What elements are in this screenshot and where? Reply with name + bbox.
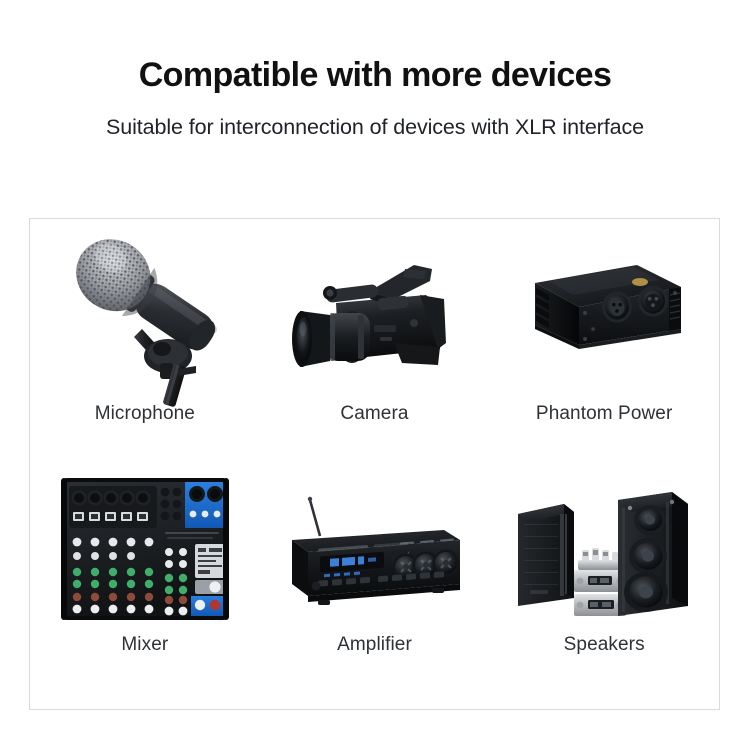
camcorder-icon	[274, 225, 474, 403]
phantom-power-artwork	[489, 225, 719, 403]
device-label-mixer: Mixer	[121, 634, 168, 656]
device-grid: Microphone	[30, 219, 719, 709]
promo-page: Compatible with more devices Suitable fo…	[0, 0, 750, 750]
amplifier-icon	[274, 466, 474, 634]
device-cell-camera[interactable]: Camera	[260, 219, 490, 464]
device-cell-speakers[interactable]: Speakers	[489, 464, 719, 709]
device-label-amplifier: Amplifier	[337, 634, 412, 656]
phantom-power-icon	[509, 225, 699, 403]
page-subtitle: Suitable for interconnection of devices …	[0, 115, 750, 140]
device-compatibility-card: Microphone	[29, 218, 720, 710]
speakers-artwork	[489, 466, 719, 634]
microphone-icon	[50, 225, 240, 403]
microphone-artwork	[30, 225, 260, 403]
device-cell-mixer[interactable]: Mixer	[30, 464, 260, 709]
device-cell-phantom-power[interactable]: Phantom Power	[489, 219, 719, 464]
device-label-camera: Camera	[340, 403, 408, 425]
amplifier-artwork	[260, 466, 490, 634]
audio-mixer-icon	[45, 466, 245, 634]
page-title: Compatible with more devices	[0, 56, 750, 95]
device-label-microphone: Microphone	[95, 403, 195, 425]
device-cell-microphone[interactable]: Microphone	[30, 219, 260, 464]
device-label-phantom-power: Phantom Power	[536, 403, 672, 425]
device-label-speakers: Speakers	[564, 634, 645, 656]
device-cell-amplifier[interactable]: Amplifier	[260, 464, 490, 709]
camera-artwork	[260, 225, 490, 403]
speakers-icon	[504, 466, 704, 634]
page-header: Compatible with more devices Suitable fo…	[0, 0, 750, 140]
mixer-artwork	[30, 466, 260, 634]
